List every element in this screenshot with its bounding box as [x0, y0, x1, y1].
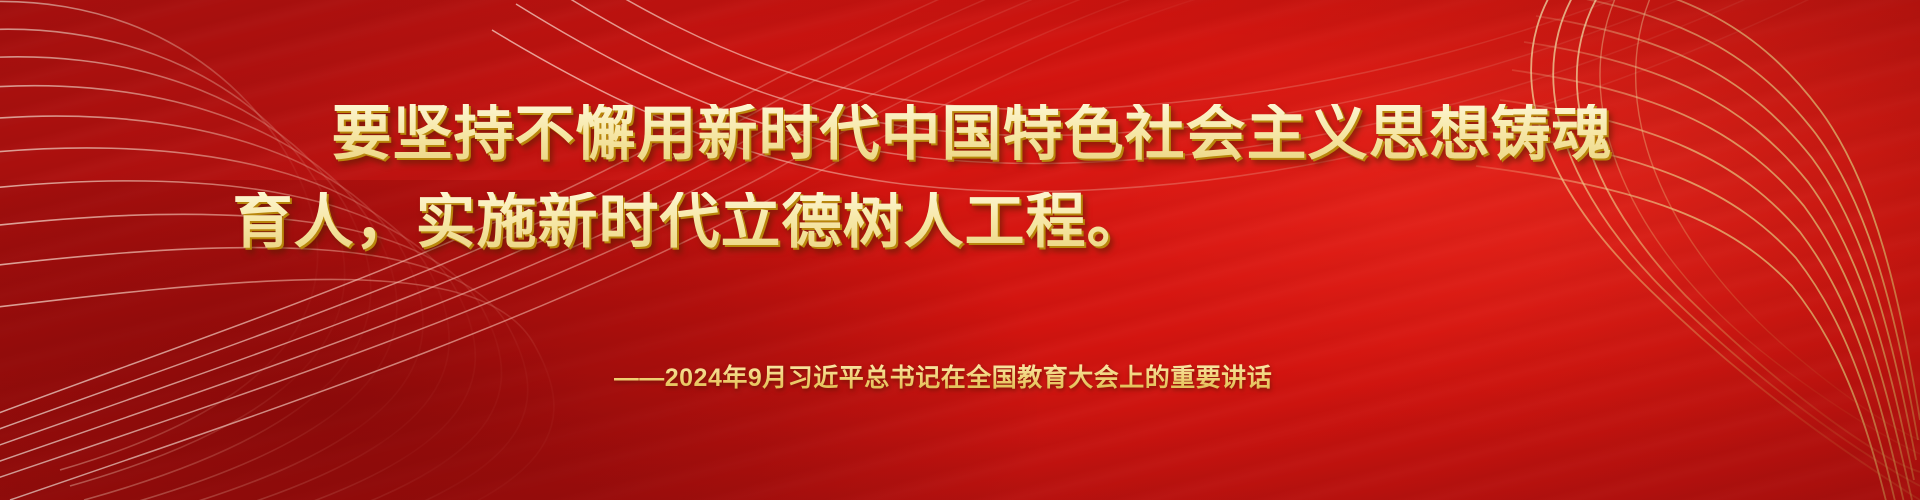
headline-line-1: 要坚持不懈用新时代中国特色社会主义思想铸魂 [0, 104, 1920, 164]
banner-content: 要坚持不懈用新时代中国特色社会主义思想铸魂 育人，实施新时代立德树人工程。 ——… [0, 0, 1920, 500]
attribution-block: ——2024年9月习近平总书记在全国教育大会上的重要讲话 [0, 358, 1920, 394]
attribution-text: ——2024年9月习近平总书记在全国教育大会上的重要讲话 [614, 358, 1273, 394]
headline-block: 要坚持不懈用新时代中国特色社会主义思想铸魂 育人，实施新时代立德树人工程。 [0, 104, 1920, 252]
headline-line-2: 育人，实施新时代立德树人工程。 [0, 192, 1920, 252]
slogan-banner: 要坚持不懈用新时代中国特色社会主义思想铸魂 育人，实施新时代立德树人工程。 ——… [0, 0, 1920, 500]
